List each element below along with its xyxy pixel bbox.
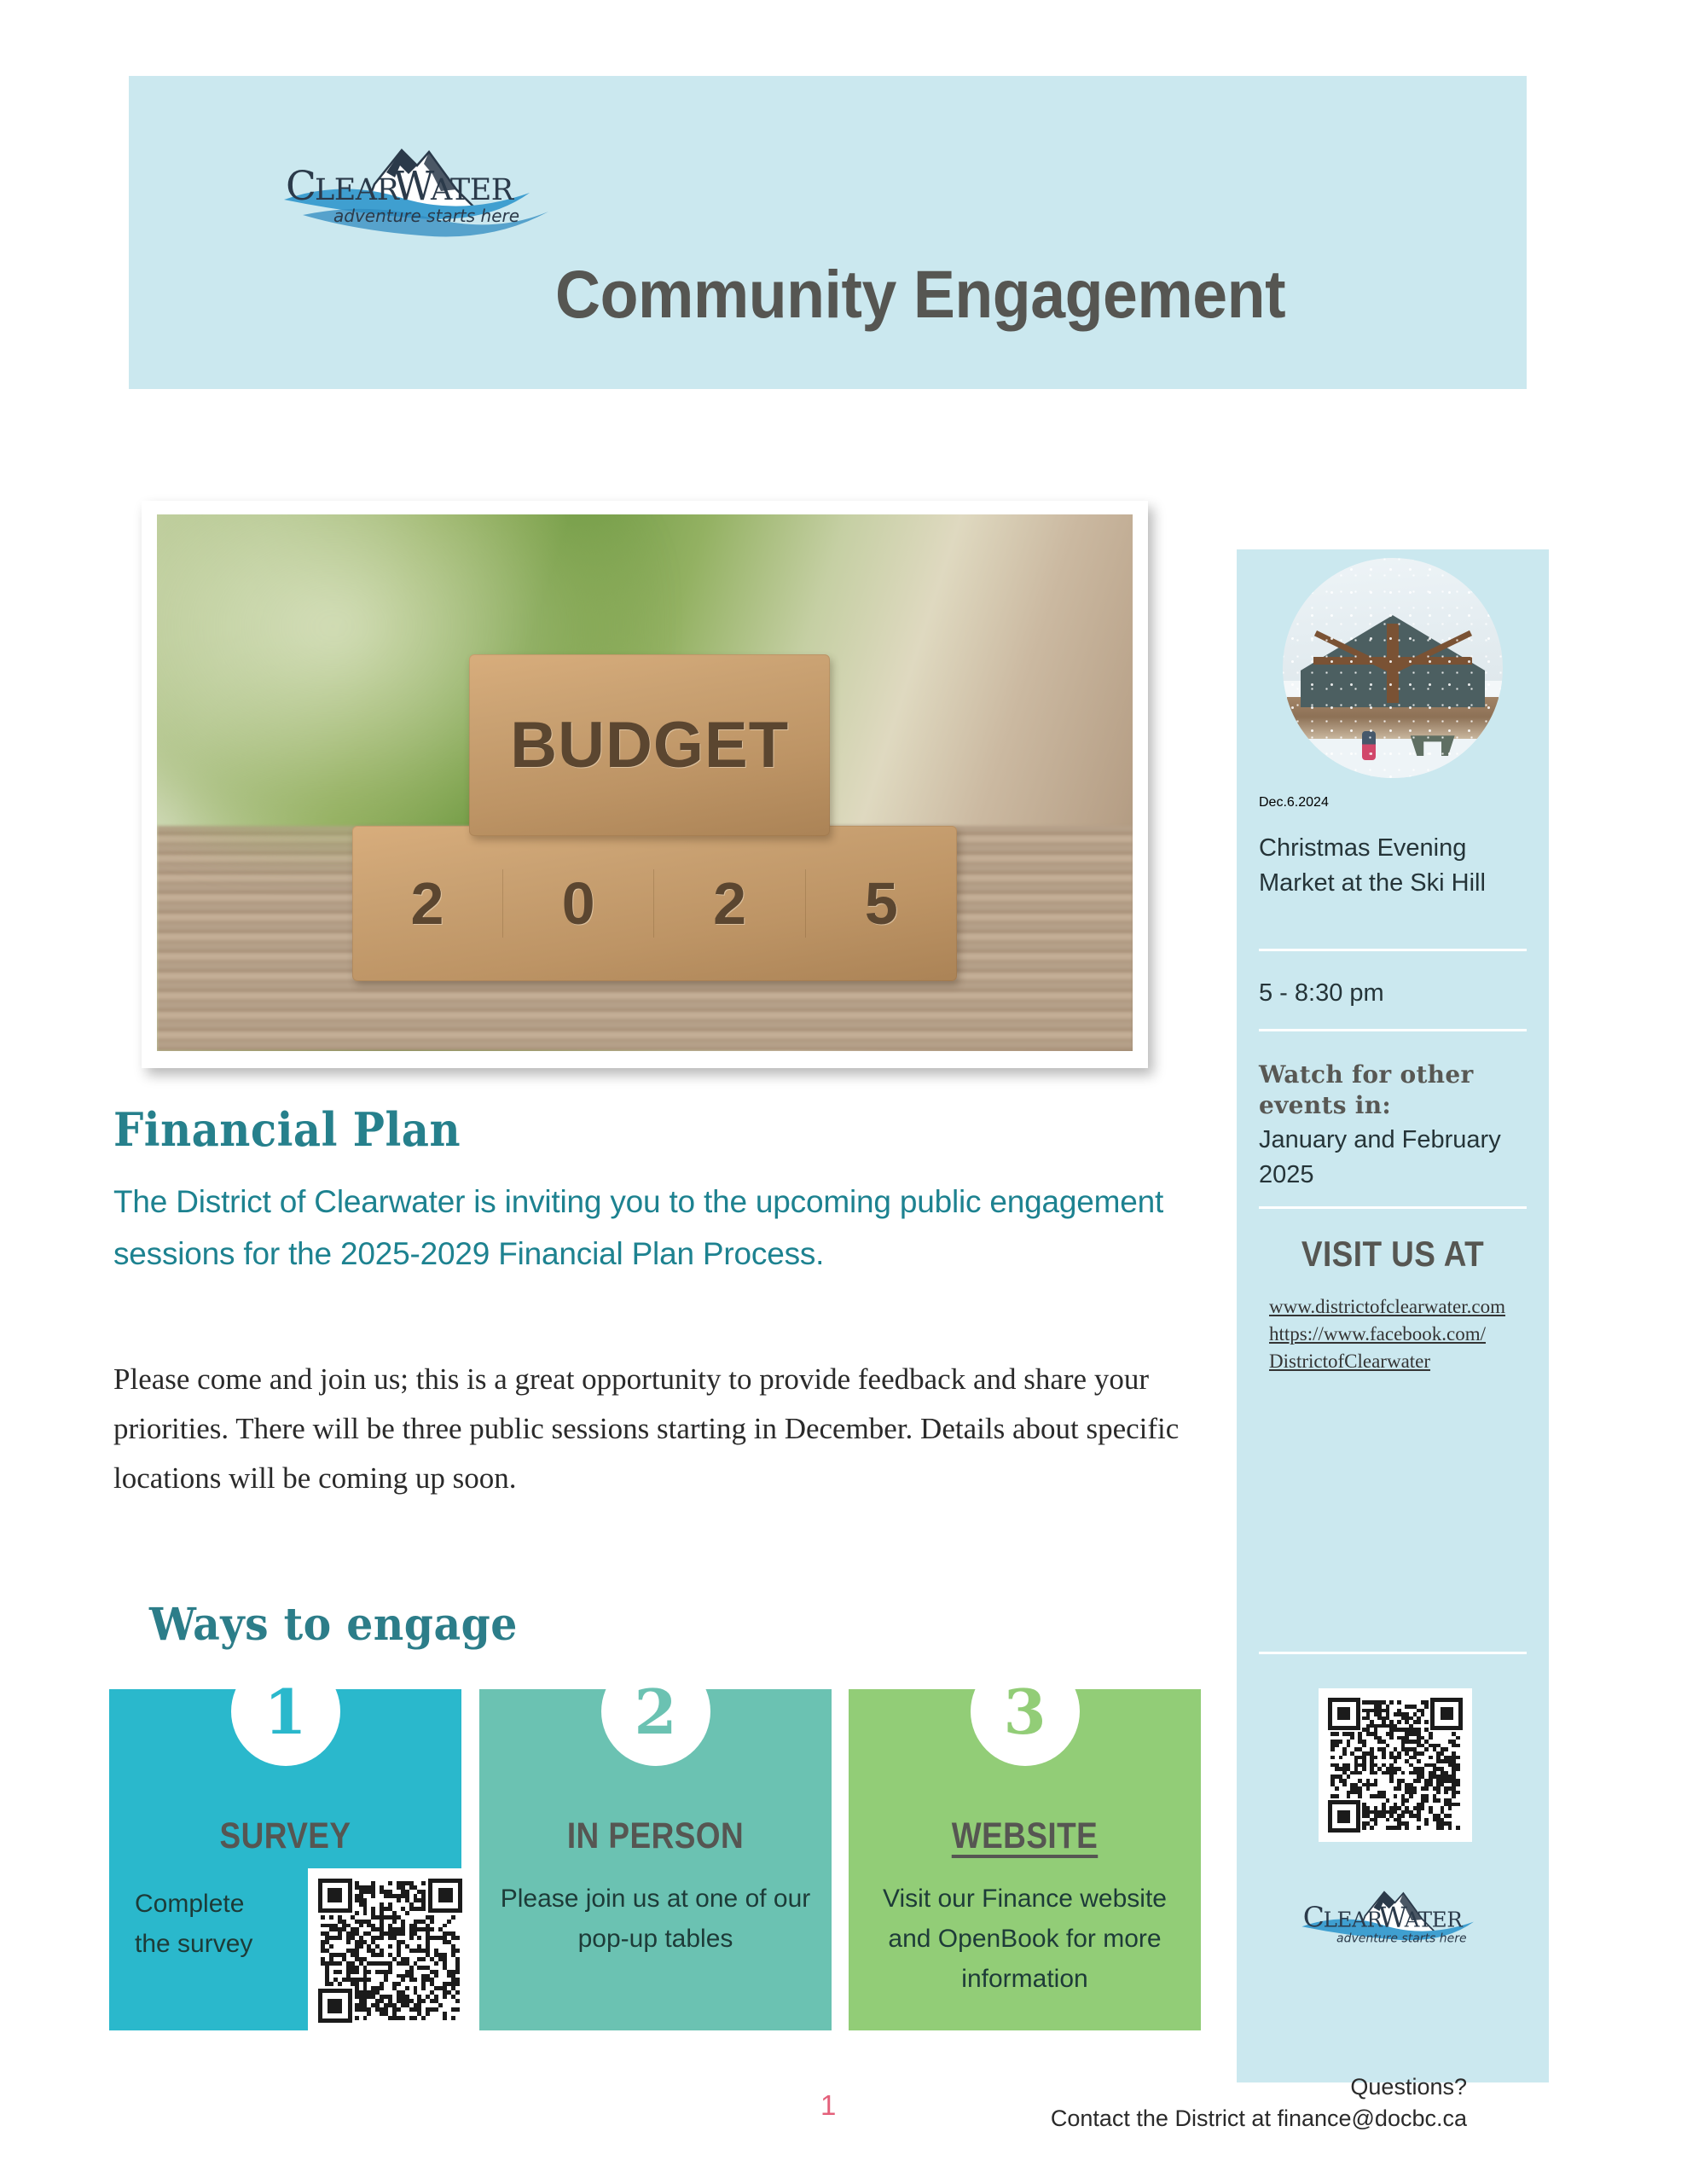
website-link[interactable]: www.districtofclearwater.com <box>1269 1293 1525 1321</box>
footer-contact: Questions? Contact the District at finan… <box>938 2071 1467 2135</box>
page-title: Community Engagement <box>555 255 1285 334</box>
engagement-cards: 1 SURVEY Complete the survey 2 IN PERSON… <box>109 1689 1209 2030</box>
contact-line: Contact the District at finance@docbc.ca <box>938 2103 1467 2135</box>
card-number-badge: 3 <box>971 1657 1080 1766</box>
year-digit: 5 <box>806 869 957 938</box>
divider <box>1259 1652 1527 1654</box>
facebook-link-line2[interactable]: DistrictofClearwater <box>1269 1348 1525 1375</box>
page-number: 1 <box>820 2089 836 2122</box>
clearwater-logo-icon: C LEAR W ATER adventure starts here <box>274 140 564 247</box>
card-number-badge: 2 <box>601 1657 710 1766</box>
card-description: Complete the survey <box>135 1884 333 1964</box>
event-date: Dec.6.2024 <box>1259 795 1527 810</box>
svg-text:C: C <box>286 163 316 210</box>
survey-qr-code[interactable] <box>308 1868 472 2033</box>
clearwater-logo-footer: C LEAR W ATER adventure starts here <box>1295 1885 1498 1960</box>
card-description: Please join us at one of our pop-up tabl… <box>491 1879 820 1959</box>
watch-events-heading: Watch for other events in: <box>1259 1060 1527 1121</box>
financial-plan-intro: The District of Clearwater is inviting y… <box>113 1176 1197 1280</box>
ski-hill-photo <box>1283 558 1503 778</box>
card-description: Visit our Finance website and OpenBook f… <box>861 1879 1189 1999</box>
budget-block-top: BUDGET <box>469 654 830 837</box>
flyer-page: C LEAR W ATER adventure starts here Comm… <box>0 0 1687 2184</box>
budget-hero-photo: BUDGET 2 0 2 5 <box>142 501 1148 1068</box>
divider <box>1259 1206 1527 1209</box>
svg-text:ATER: ATER <box>1404 1907 1464 1931</box>
svg-text:ATER: ATER <box>430 173 515 207</box>
clearwater-logo: C LEAR W ATER adventure starts here <box>274 140 564 247</box>
visit-us-links[interactable]: www.districtofclearwater.com https://www… <box>1269 1293 1525 1375</box>
budget-photo-scene: BUDGET 2 0 2 5 <box>157 514 1133 1051</box>
questions-label: Questions? <box>938 2071 1467 2103</box>
card-number-badge: 1 <box>231 1657 340 1766</box>
district-qr-code[interactable] <box>1319 1688 1472 1842</box>
qr-modules <box>1330 1700 1459 1829</box>
qr-modules <box>321 1881 459 2019</box>
svg-text:W: W <box>393 163 435 210</box>
svg-text:C: C <box>1303 1900 1324 1933</box>
falling-snow <box>1283 558 1503 778</box>
clearwater-logo-icon: C LEAR W ATER adventure starts here <box>1295 1885 1498 1960</box>
divider <box>1259 1029 1527 1031</box>
engagement-card-in-person[interactable]: 2 IN PERSON Please join us at one of our… <box>479 1689 832 2030</box>
event-time: 5 - 8:30 pm <box>1259 976 1527 1011</box>
watch-events-months: January and February 2025 <box>1259 1123 1527 1193</box>
logo-tagline-text: adventure starts here <box>333 206 519 226</box>
year-digit: 2 <box>654 869 805 938</box>
facebook-link-line1[interactable]: https://www.facebook.com/ <box>1269 1321 1525 1348</box>
card-title: IN PERSON <box>504 1815 807 1857</box>
year-digit: 2 <box>352 869 503 938</box>
event-name: Christmas Evening Market at the Ski Hill <box>1259 831 1527 901</box>
ways-to-engage-heading: Ways to engage <box>149 1599 518 1651</box>
card-title: SURVEY <box>134 1815 437 1857</box>
engagement-card-survey[interactable]: 1 SURVEY Complete the survey <box>109 1689 461 2030</box>
divider <box>1259 949 1527 951</box>
budget-block-year: 2 0 2 5 <box>352 826 957 981</box>
visit-us-heading: VISIT US AT <box>1275 1234 1510 1275</box>
financial-plan-heading: Financial Plan <box>113 1102 461 1157</box>
engagement-card-website[interactable]: 3 WEBSITE Visit our Finance website and … <box>849 1689 1201 2030</box>
card-title: WEBSITE <box>873 1815 1176 1857</box>
events-sidebar: Dec.6.2024 Christmas Evening Market at t… <box>1237 549 1549 2082</box>
svg-text:LEAR: LEAR <box>1324 1907 1384 1931</box>
header-band: C LEAR W ATER adventure starts here Comm… <box>129 76 1527 389</box>
svg-text:adventure starts here: adventure starts here <box>1336 1931 1467 1945</box>
year-digit: 0 <box>503 869 654 938</box>
svg-text:LEAR: LEAR <box>315 173 401 207</box>
svg-text:W: W <box>1378 1900 1407 1933</box>
financial-plan-body: Please come and join us; this is a great… <box>113 1355 1214 1503</box>
